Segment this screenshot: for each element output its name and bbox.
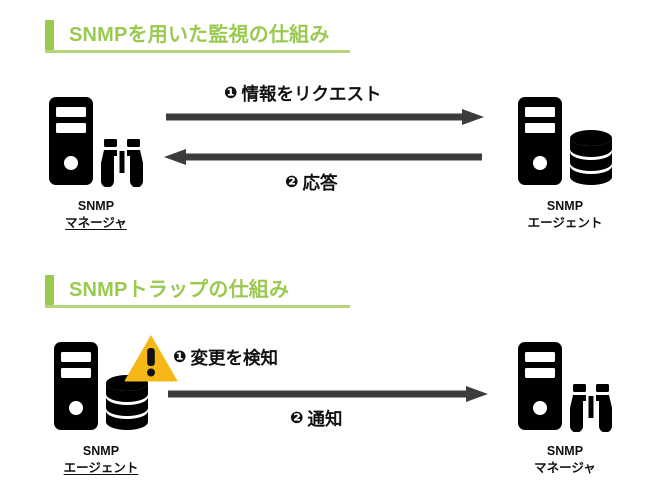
node-snmp-manager-top: SNMP マネージャ: [36, 100, 156, 232]
step-number-1: ❶: [173, 350, 187, 366]
warning-triangle-icon: [124, 334, 178, 382]
binoculars-icon: [568, 384, 614, 437]
node-label-line1: SNMP: [534, 443, 596, 460]
node-label-line1: SNMP: [64, 443, 139, 460]
node-label-snmp-manager-top: SNMP マネージャ: [65, 198, 127, 232]
node-label-line2: マネージャ: [65, 215, 127, 232]
step-caption-detect-change: ❶ 変更を検知: [173, 347, 278, 369]
node-icon-group: [48, 100, 145, 192]
step-number-2: ❷: [290, 411, 304, 427]
step-text-1: 情報をリクエスト: [242, 83, 382, 105]
database-icon: [568, 129, 614, 192]
node-snmp-agent-top: SNMP エージェント: [500, 100, 630, 232]
section-title-trap: SNMPトラップの仕組み: [54, 275, 289, 305]
node-label-line2: エージェント: [528, 215, 603, 232]
node-label-snmp-agent-bottom: SNMP エージェント: [64, 443, 139, 477]
server-tower-icon: [517, 95, 563, 192]
step-caption-request: ❶ 情報をリクエスト: [224, 83, 382, 105]
heading-accent-bar: [45, 275, 54, 305]
node-icon-group: [517, 345, 614, 437]
step-text-2: 通知: [308, 408, 343, 430]
node-label-line2: エージェント: [64, 460, 139, 477]
arrow-request-right: [166, 108, 484, 126]
node-snmp-manager-bottom: SNMP マネージャ: [500, 345, 630, 477]
heading-accent-bar: [45, 20, 54, 50]
heading-underline-monitoring: [45, 50, 350, 53]
node-label-line2: マネージャ: [534, 460, 596, 477]
node-label-line1: SNMP: [65, 198, 127, 215]
server-tower-icon: [53, 340, 99, 437]
diagram-canvas: SNMPを用いた監視の仕組み: [0, 0, 652, 492]
step-caption-notify: ❷ 通知: [290, 408, 343, 430]
step-text-1: 変更を検知: [191, 347, 279, 369]
database-icon: [104, 374, 150, 437]
section-heading-monitoring: SNMPを用いた監視の仕組み: [45, 20, 330, 50]
server-tower-icon: [48, 95, 94, 192]
arrow-notify-right: [168, 385, 488, 403]
step-number-1: ❶: [224, 86, 238, 102]
node-label-snmp-manager-bottom: SNMP マネージャ: [534, 443, 596, 477]
node-label-snmp-agent-top: SNMP エージェント: [528, 198, 603, 232]
section-title-monitoring: SNMPを用いた監視の仕組み: [54, 20, 330, 50]
node-icon-group: [517, 100, 614, 192]
arrow-response-left: [164, 148, 482, 166]
binoculars-icon: [99, 139, 145, 192]
server-tower-icon: [517, 340, 563, 437]
node-label-line1: SNMP: [528, 198, 603, 215]
step-caption-response: ❷ 応答: [285, 172, 338, 194]
step-text-2: 応答: [303, 172, 338, 194]
step-number-2: ❷: [285, 175, 299, 191]
heading-underline-trap: [45, 305, 350, 308]
section-heading-trap: SNMPトラップの仕組み: [45, 275, 289, 305]
